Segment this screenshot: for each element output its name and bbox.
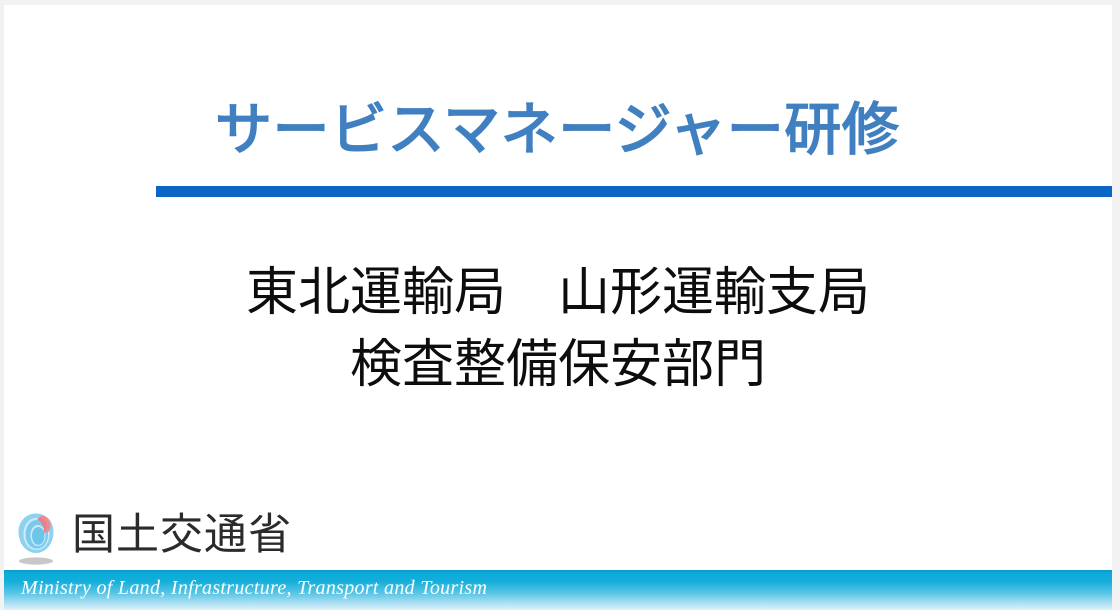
subtitle-block: 東北運輸局 山形運輸支局 検査整備保安部門 xyxy=(4,257,1112,401)
subtitle-line-organization: 東北運輸局 山形運輸支局 xyxy=(4,257,1112,329)
ministry-logo: 国土交通省 xyxy=(12,508,292,568)
subtitle-line-department: 検査整備保安部門 xyxy=(4,329,1112,401)
title-block: サービスマネージャー研修 xyxy=(4,93,1112,171)
presentation-slide: サービスマネージャー研修 東北運輸局 山形運輸支局 検査整備保安部門 xyxy=(4,5,1112,610)
footer-band: Ministry of Land, Infrastructure, Transp… xyxy=(4,570,1112,610)
mlit-emblem-icon xyxy=(12,509,60,567)
title-underline-rule xyxy=(156,186,1112,197)
slide-title: サービスマネージャー研修 xyxy=(215,93,899,167)
slide-frame: サービスマネージャー研修 東北運輸局 山形運輸支局 検査整備保安部門 xyxy=(0,0,1120,610)
footer-ministry-english-name: Ministry of Land, Infrastructure, Transp… xyxy=(21,575,487,601)
ministry-wordmark: 国土交通省 xyxy=(72,512,292,564)
